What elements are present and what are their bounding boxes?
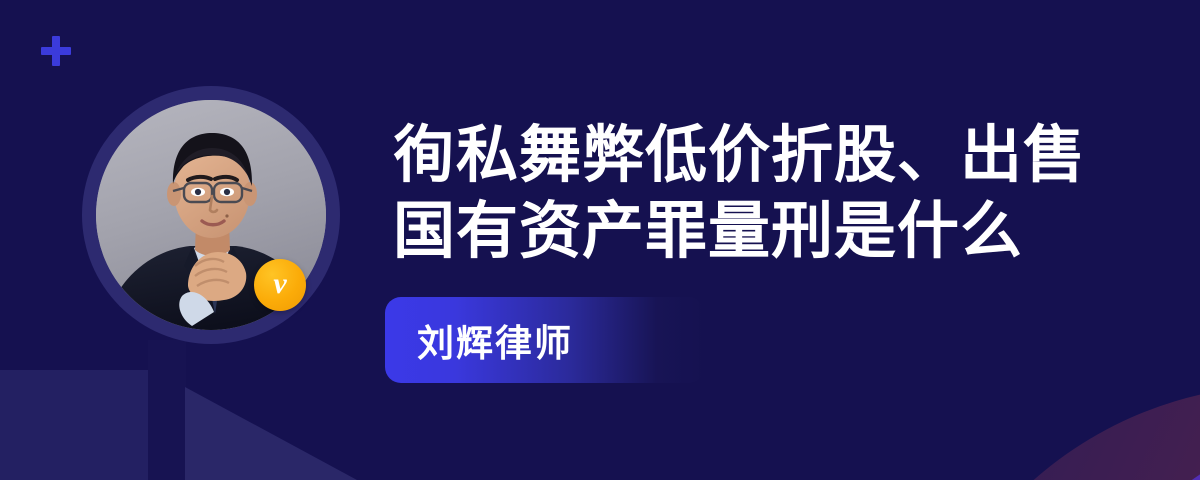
verified-glyph: v (273, 269, 286, 299)
text-block: 徇私舞弊低价折股、出售 国有资产罪量刑是什么 (393, 118, 1133, 270)
decorative-triangle (185, 387, 357, 480)
decorative-column (148, 340, 186, 480)
plus-icon-vertical-bar (52, 36, 60, 66)
decorative-arc-purple (1045, 415, 1200, 480)
decorative-arc-crimson (905, 385, 1200, 480)
avatar[interactable]: v (82, 86, 340, 344)
decorative-slab-left (0, 370, 148, 480)
page-title: 徇私舞弊低价折股、出售 国有资产罪量刑是什么 (393, 118, 1133, 270)
lawyer-article-banner: v 徇私舞弊低价折股、出售 国有资产罪量刑是什么 刘辉律师 (0, 0, 1200, 480)
lawyer-name-badge[interactable]: 刘辉律师 (385, 297, 705, 383)
plus-icon (41, 36, 71, 66)
lawyer-name-label: 刘辉律师 (385, 313, 573, 367)
verified-v-icon: v (254, 259, 306, 311)
plus-icon-horizontal-bar (41, 47, 71, 55)
